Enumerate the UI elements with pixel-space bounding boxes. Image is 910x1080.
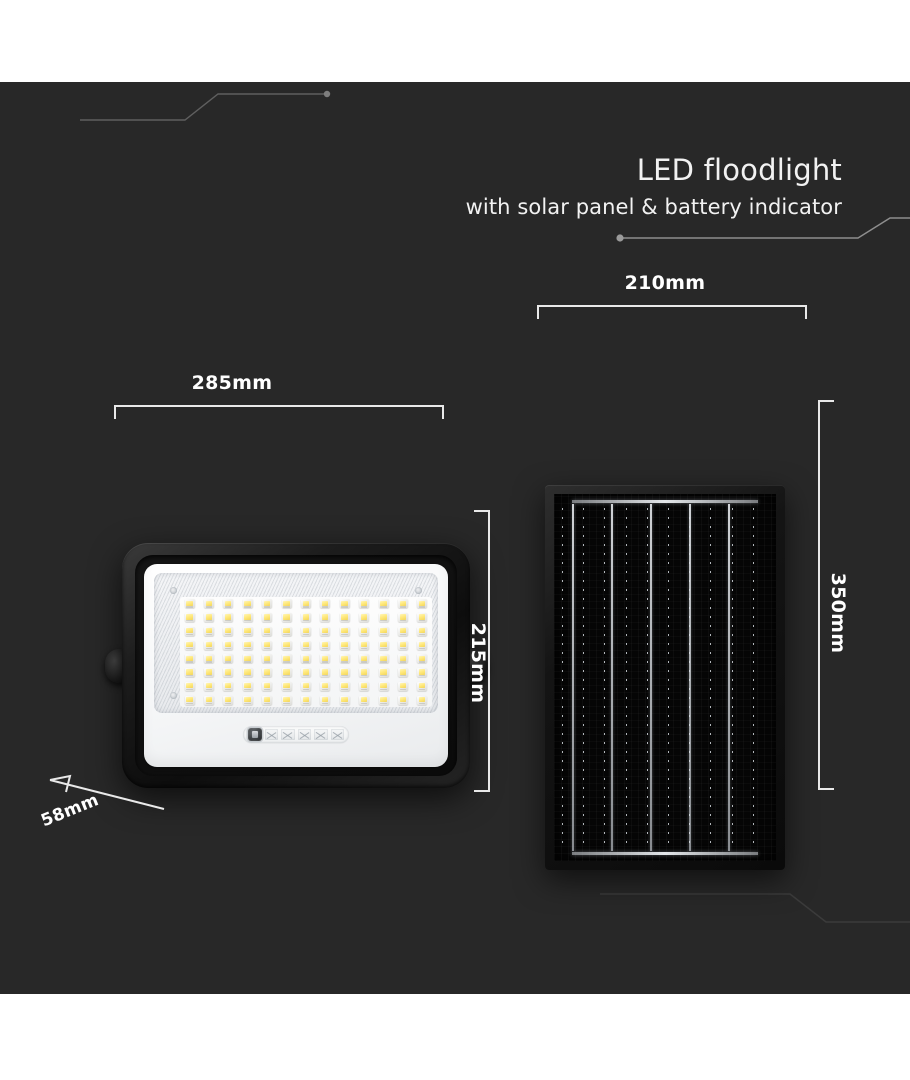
- product-diagram-stage: LED floodlight with solar panel & batter…: [0, 82, 910, 994]
- dimension-tick: [474, 790, 490, 792]
- led-chip: [359, 654, 369, 663]
- led-chip: [243, 696, 253, 705]
- led-chip: [185, 668, 195, 677]
- led-chip: [262, 668, 272, 677]
- led-chip: [398, 599, 408, 608]
- led-chip: [185, 613, 195, 622]
- led-chip: [262, 696, 272, 705]
- indicator-segment: [331, 729, 344, 740]
- dimension-tick: [442, 405, 444, 419]
- heading-block: LED floodlight with solar panel & batter…: [466, 154, 842, 219]
- led-chip: [301, 627, 311, 636]
- led-chip: [320, 654, 330, 663]
- led-chip: [359, 696, 369, 705]
- led-chip: [417, 696, 427, 705]
- screw-icon: [415, 587, 422, 594]
- led-chip: [379, 599, 389, 608]
- led-chip: [204, 599, 214, 608]
- solar-finger-line: [689, 508, 690, 847]
- led-chip: [262, 613, 272, 622]
- led-chip: [282, 654, 292, 663]
- led-chip: [417, 682, 427, 691]
- dimension-label: 215mm: [467, 623, 489, 704]
- led-chip: [282, 668, 292, 677]
- led-chip: [379, 682, 389, 691]
- circuit-trace-right: [590, 212, 910, 272]
- led-chip: [204, 668, 214, 677]
- led-chip: [301, 613, 311, 622]
- battery-indicator-strip: [243, 726, 349, 743]
- solar-panel-glass: [554, 494, 776, 861]
- led-chip: [417, 654, 427, 663]
- led-chip: [398, 682, 408, 691]
- led-array: [180, 597, 432, 707]
- led-chip: [223, 627, 233, 636]
- dimension-line: [488, 510, 490, 792]
- led-chip: [340, 682, 350, 691]
- led-chip: [340, 641, 350, 650]
- led-chip: [359, 682, 369, 691]
- led-chip: [204, 682, 214, 691]
- led-chip: [417, 599, 427, 608]
- led-chip: [340, 599, 350, 608]
- led-chip: [262, 682, 272, 691]
- led-chip: [379, 654, 389, 663]
- circuit-trace-bottom-right: [600, 872, 910, 952]
- solar-collector-bar: [572, 852, 758, 855]
- led-chip: [185, 696, 195, 705]
- led-chip: [204, 654, 214, 663]
- led-chip: [359, 641, 369, 650]
- solar-busbar: [650, 504, 652, 851]
- led-chip: [320, 696, 330, 705]
- led-chip: [320, 613, 330, 622]
- led-chip: [340, 668, 350, 677]
- led-chip: [320, 599, 330, 608]
- led-chip: [398, 654, 408, 663]
- solar-finger-line: [753, 508, 754, 847]
- led-chip: [282, 627, 292, 636]
- solar-battery-icon: [248, 728, 262, 741]
- led-chip: [185, 599, 195, 608]
- floodlight-housing: [122, 543, 470, 788]
- led-chip: [398, 641, 408, 650]
- led-chip: [417, 627, 427, 636]
- indicator-segment: [314, 729, 327, 740]
- led-chip: [262, 627, 272, 636]
- led-chip: [340, 696, 350, 705]
- led-chip: [340, 654, 350, 663]
- product-floodlight: [122, 543, 470, 788]
- solar-collector-bar: [572, 500, 758, 503]
- led-chip: [340, 613, 350, 622]
- led-chip: [243, 613, 253, 622]
- led-chip: [301, 682, 311, 691]
- dimension-tick: [818, 400, 834, 402]
- led-chip: [223, 613, 233, 622]
- led-chip: [417, 641, 427, 650]
- dimension-line: [114, 405, 444, 407]
- led-chip: [185, 641, 195, 650]
- solar-cell-grid: [554, 494, 776, 861]
- led-chip: [320, 682, 330, 691]
- led-chip: [340, 627, 350, 636]
- dimension-line: [537, 305, 807, 307]
- dimension-label: 210mm: [625, 272, 706, 294]
- page-title: LED floodlight: [466, 154, 842, 187]
- solar-finger-line: [668, 508, 669, 847]
- dimension-tick: [818, 788, 834, 790]
- screw-icon: [170, 587, 177, 594]
- led-chip: [398, 627, 408, 636]
- led-chip: [417, 613, 427, 622]
- led-chip: [223, 668, 233, 677]
- circuit-trace-top-left: [0, 82, 480, 152]
- led-chip: [262, 599, 272, 608]
- led-chip: [204, 627, 214, 636]
- led-chip: [262, 641, 272, 650]
- led-chip: [359, 599, 369, 608]
- led-chip: [204, 613, 214, 622]
- led-chip: [282, 641, 292, 650]
- led-chip: [301, 668, 311, 677]
- led-chip: [223, 599, 233, 608]
- led-chip: [398, 613, 408, 622]
- led-chip: [301, 696, 311, 705]
- led-chip: [282, 599, 292, 608]
- led-chip: [320, 641, 330, 650]
- led-chip: [204, 641, 214, 650]
- led-chip: [379, 668, 389, 677]
- floodlight-reflector: [154, 573, 438, 713]
- solar-finger-line: [710, 508, 711, 847]
- led-chip: [243, 668, 253, 677]
- led-chip: [379, 641, 389, 650]
- led-chip: [359, 668, 369, 677]
- led-chip: [223, 641, 233, 650]
- solar-panel-frame: [545, 485, 785, 870]
- solar-busbar: [572, 504, 574, 851]
- dimension-label: 285mm: [192, 372, 273, 394]
- solar-finger-line: [583, 508, 584, 847]
- solar-finger-line: [732, 508, 733, 847]
- solar-finger-line: [562, 508, 563, 847]
- screw-icon: [170, 692, 177, 699]
- solar-finger-line: [647, 508, 648, 847]
- led-chip: [185, 627, 195, 636]
- floodlight-diffuser-face: [144, 564, 448, 767]
- led-chip: [223, 654, 233, 663]
- led-chip: [223, 682, 233, 691]
- led-chip: [243, 654, 253, 663]
- led-chip: [185, 682, 195, 691]
- led-chip: [262, 654, 272, 663]
- led-chip: [282, 682, 292, 691]
- dimension-label: 350mm: [827, 573, 849, 654]
- dimension-tick: [114, 405, 116, 419]
- dimension-tick: [474, 510, 490, 512]
- led-chip: [282, 613, 292, 622]
- led-chip: [359, 613, 369, 622]
- led-chip: [379, 696, 389, 705]
- led-chip: [301, 599, 311, 608]
- page-subtitle: with solar panel & battery indicator: [466, 195, 842, 219]
- led-chip: [398, 696, 408, 705]
- dimension-line: [818, 400, 820, 790]
- led-chip: [243, 641, 253, 650]
- led-chip: [301, 641, 311, 650]
- led-chip: [301, 654, 311, 663]
- led-chip: [243, 682, 253, 691]
- indicator-segment: [265, 729, 278, 740]
- led-chip: [379, 613, 389, 622]
- led-chip: [320, 668, 330, 677]
- led-chip: [320, 627, 330, 636]
- indicator-segment: [298, 729, 311, 740]
- indicator-segment: [281, 729, 294, 740]
- led-chip: [185, 654, 195, 663]
- led-chip: [204, 696, 214, 705]
- solar-finger-line: [626, 508, 627, 847]
- led-chip: [223, 696, 233, 705]
- led-chip: [379, 627, 389, 636]
- dimension-tick: [537, 305, 539, 319]
- led-chip: [398, 668, 408, 677]
- solar-busbar: [611, 504, 613, 851]
- led-chip: [359, 627, 369, 636]
- led-chip: [243, 627, 253, 636]
- product-solar-panel: [545, 485, 785, 870]
- led-chip: [243, 599, 253, 608]
- led-chip: [282, 696, 292, 705]
- dimension-tick: [805, 305, 807, 319]
- solar-finger-line: [604, 508, 605, 847]
- led-chip: [417, 668, 427, 677]
- solar-busbar: [728, 504, 730, 851]
